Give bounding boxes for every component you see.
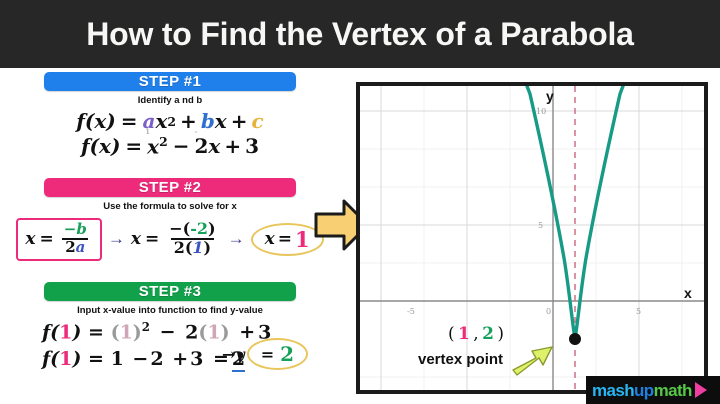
term-x-squared: 1 x2 (147, 134, 168, 159)
coefficient-c: c (252, 109, 264, 133)
term-2x: - 2x (195, 134, 221, 158)
title-bar: How to Find the Vertex of a Parabola (0, 0, 720, 68)
substituted-fraction: −(-2) 2(1) (166, 221, 218, 257)
step-3-equation-2: f(1) = 1 −2 +3 =2 (42, 348, 245, 370)
step-3-result-value: 2 (280, 342, 294, 366)
x-tick-5: 5 (636, 307, 641, 316)
step-1: STEP #1 Identify a nd b f(x) = ax2 + bx … (0, 72, 340, 159)
step-2: STEP #2 Use the formula to solve for x x… (0, 178, 340, 261)
plus-sign-2: + (231, 109, 248, 133)
step2-arrow-2: → (228, 229, 245, 249)
vertex-point-label: vertex point (418, 351, 503, 368)
step-3-work: f(1) = (1)2 − 2(1) +3 f(1) = 1 −2 +3 =2 … (0, 320, 340, 382)
exponent-2b: 2 (159, 134, 168, 149)
fx-label: f(x) (76, 109, 115, 133)
variable-x-3: x (147, 135, 159, 159)
graph-inner: -5 0 5 5 10 y x ( 1 , 2 ) vertex point (360, 86, 704, 390)
step-2-banner-label: STEP #2 (139, 180, 202, 195)
x-tick-0: 0 (546, 307, 551, 316)
variable-x-2: x (215, 109, 227, 133)
step-1-banner: STEP #1 (44, 72, 296, 91)
step-3: STEP #3 Input x-value into function to f… (0, 282, 340, 382)
coefficient-b: b (201, 109, 215, 133)
variable-x-4: x (208, 134, 220, 158)
vertex-formula-box: x = −b 2a (16, 218, 101, 261)
steps-column: STEP #1 Identify a nd b f(x) = ax2 + bx … (0, 68, 340, 404)
equals-sign: = (121, 109, 138, 133)
tick-mark-b: - (195, 127, 198, 136)
exponent-2: 2 (167, 114, 176, 129)
x-tick-neg5: -5 (407, 307, 415, 316)
step-3-result: →y = 2 (222, 338, 308, 370)
graph-panel: -5 0 5 5 10 y x ( 1 , 2 ) vertex point (356, 82, 708, 394)
fx-label-2: f(x) (81, 134, 120, 158)
step-2-subtitle: Use the formula to solve for x (0, 201, 340, 212)
coefficient-2: 2 (195, 134, 209, 158)
formula-denominator: 2a (62, 238, 88, 256)
equals-sign-2: = (125, 134, 142, 158)
formula-equals: = (40, 229, 54, 249)
step-1-subtitle: Identify a nd b (0, 95, 340, 106)
step-3-banner: STEP #3 (44, 282, 296, 301)
result-equals: = (278, 229, 292, 249)
variable-x: x (155, 109, 167, 133)
mashupmath-logo[interactable]: mashupmath (586, 376, 720, 404)
formula-numerator: −b (61, 222, 90, 238)
logo-text-up: up (634, 382, 654, 399)
step-3-banner-label: STEP #3 (139, 284, 202, 299)
substituted-numerator: −(-2) (166, 221, 218, 238)
vertex-dot (569, 333, 581, 345)
step-2-work-row: x = −b 2a → x = −(-2) 2(1) → (0, 218, 340, 261)
page-title: How to Find the Vertex of a Parabola (86, 16, 634, 53)
y-equals: = (261, 345, 274, 364)
step-1-equation-specific: f(x) = 1 x2 − - 2x + 3 (0, 134, 340, 159)
y-axis-label: y (546, 88, 554, 104)
logo-text-mash: mash (592, 382, 634, 399)
x-axis-label: x (684, 285, 692, 301)
tick-mark-a: 1 (145, 127, 150, 136)
step-3-result-circle: = 2 (247, 338, 308, 370)
minus-sign: − (173, 134, 190, 158)
step-1-equation-general: f(x) = ax2 + bx + c (0, 109, 340, 133)
y-tick-10: 10 (536, 107, 546, 116)
parabola-plot: -5 0 5 5 10 y x ( 1 , 2 ) vertex point (360, 86, 704, 390)
formula-fraction: −b 2a (61, 222, 90, 256)
result-x: x (265, 229, 275, 249)
vertex-annotation: ( 1 , 2 ) vertex point (418, 324, 504, 368)
step3-arrow: →y (222, 345, 245, 364)
step-2-result-value: 1 (295, 227, 310, 252)
logo-text-math: math (654, 382, 692, 399)
y-tick-5: 5 (538, 221, 543, 230)
step-3-subtitle: Input x-value into function to find y-va… (0, 305, 340, 316)
plus-sign-3: + (224, 134, 241, 158)
formula-x: x (25, 229, 35, 249)
substituted-expression: x = −(-2) 2(1) (131, 221, 222, 257)
poster-canvas: How to Find the Vertex of a Parabola STE… (0, 0, 720, 404)
step-1-banner-label: STEP #1 (139, 74, 202, 89)
vertex-pointer-arrow (513, 347, 552, 375)
substituted-denominator: 2(1) (171, 238, 214, 257)
minor-gridlines (360, 86, 704, 390)
major-gridlines (360, 86, 704, 390)
step-2-banner: STEP #2 (44, 178, 296, 197)
step2-arrow-1: → (108, 229, 125, 249)
sub-equals: = (145, 229, 159, 249)
constant-3: 3 (245, 134, 259, 158)
play-triangle-icon (695, 382, 707, 398)
sub-x: x (131, 229, 141, 249)
vertex-coordinates: ( 1 , 2 ) (448, 324, 504, 344)
